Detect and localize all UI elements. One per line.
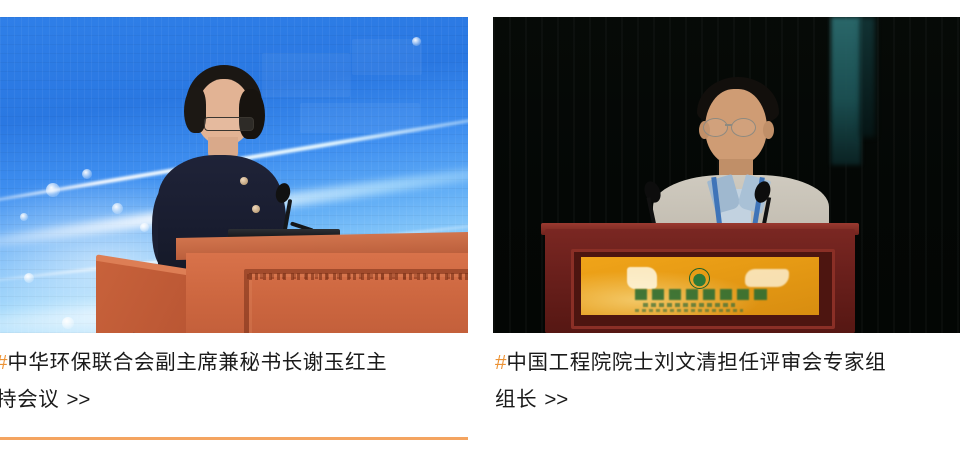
backdrop-panel — [300, 103, 420, 133]
read-more-chevron-icon[interactable]: >> — [544, 388, 568, 411]
plaque-motif — [627, 267, 657, 289]
backdrop-panel — [262, 53, 350, 97]
news-card-right[interactable]: #中国工程院院士刘文清担任评审会专家组 组长 >> — [493, 0, 960, 461]
photo-liu-wenqing-speaking[interactable] — [493, 17, 960, 333]
hash-icon: # — [495, 351, 506, 374]
news-card-left[interactable]: #中华环保联合会副主席兼秘书长谢玉红主 持会议 >> — [0, 0, 468, 461]
bokeh-dot — [140, 223, 149, 232]
bokeh-dot — [112, 203, 123, 214]
speaker-ear — [763, 121, 774, 139]
plaque-motif — [745, 269, 789, 287]
bokeh-dot — [412, 37, 421, 46]
backdrop-panel — [352, 39, 422, 75]
bokeh-dot — [20, 213, 28, 221]
speaker-hair-side — [239, 89, 265, 139]
caption-text-line-1: 中华环保联合会副主席兼秘书长谢玉红主 — [7, 350, 387, 374]
speaker-glasses — [731, 118, 756, 137]
caption-left[interactable]: #中华环保联合会副主席兼秘书长谢玉红主 持会议 >> — [0, 344, 468, 418]
lapel-pin — [252, 205, 260, 213]
bokeh-dot — [24, 273, 34, 283]
plaque-chinese-text — [635, 289, 767, 300]
caption-line-2: 组长 >> — [495, 381, 960, 418]
bokeh-dot — [62, 317, 74, 329]
speaker-glasses — [703, 118, 728, 137]
caption-line-2: 持会议 >> — [0, 381, 468, 418]
photo-xie-yuhong-speaking[interactable] — [0, 17, 468, 333]
lapel-pin — [240, 177, 248, 185]
bokeh-dot — [46, 183, 60, 197]
podium-greek-key-pattern — [244, 269, 468, 333]
caption-line-1: #中国工程院院士刘文清担任评审会专家组 — [495, 344, 960, 381]
caption-line-1: #中华环保联合会副主席兼秘书长谢玉红主 — [0, 344, 468, 381]
speaker-glasses — [204, 117, 254, 131]
caption-text-line-1: 中国工程院院士刘文清担任评审会专家组 — [506, 350, 886, 374]
bokeh-dot — [82, 169, 92, 179]
caption-right[interactable]: #中国工程院院士刘文清担任评审会专家组 组长 >> — [495, 344, 960, 418]
read-more-chevron-icon[interactable]: >> — [66, 388, 90, 411]
plaque-english-subtext — [635, 309, 743, 312]
venue-emblem-icon — [689, 268, 710, 289]
podium-venue-plaque — [581, 257, 819, 315]
news-photo-gallery: #中华环保联合会副主席兼秘书长谢玉红主 持会议 >> — [0, 0, 960, 461]
speaker-hair-side — [184, 87, 206, 133]
curtain-highlight — [859, 17, 875, 137]
plaque-english-text — [643, 303, 735, 307]
caption-text-line-2: 组长 — [495, 387, 537, 411]
divider-left — [0, 437, 468, 440]
curtain-highlight — [831, 17, 861, 165]
glasses-bridge — [725, 124, 732, 126]
caption-text-line-2: 持会议 — [0, 387, 59, 411]
